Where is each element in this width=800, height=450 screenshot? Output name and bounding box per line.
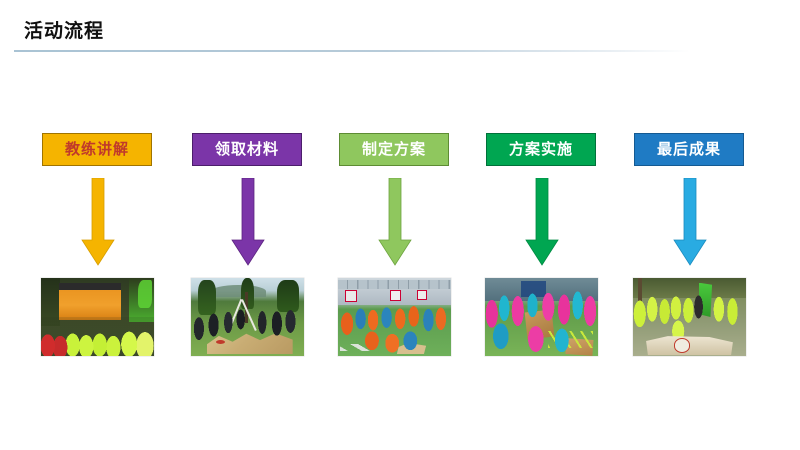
flow-step-1: 教练讲解 (26, 0, 176, 450)
step-label-text-1: 教练讲解 (65, 142, 129, 157)
flow-step-5: 最后成果 (618, 0, 768, 450)
photo-2-participants (191, 297, 304, 348)
step-label-text-2: 领取材料 (215, 142, 279, 157)
step-label-text-3: 制定方案 (362, 142, 426, 157)
step-photo-3 (338, 278, 451, 356)
step-photo-2 (191, 278, 304, 356)
step-photo-1 (41, 278, 154, 356)
step-label-box-1[interactable]: 教练讲解 (42, 133, 152, 166)
step-label-text-5: 最后成果 (657, 142, 721, 157)
process-flow: 教练讲解 领取材料 (0, 0, 800, 450)
photo-4-props (485, 342, 598, 354)
down-arrow-icon (378, 178, 412, 266)
step-label-box-3[interactable]: 制定方案 (339, 133, 449, 166)
flow-step-3: 制定方案 (323, 0, 473, 450)
step-label-box-2[interactable]: 领取材料 (192, 133, 302, 166)
step-label-box-4[interactable]: 方案实施 (486, 133, 596, 166)
step-label-text-4: 方案实施 (509, 142, 573, 157)
down-arrow-icon (81, 178, 115, 266)
down-arrow-icon (525, 178, 559, 266)
step-photo-5 (633, 278, 746, 356)
flow-step-4: 方案实施 (470, 0, 620, 450)
photo-5-emblem (674, 338, 691, 352)
down-arrow-icon (231, 178, 265, 266)
down-arrow-icon (673, 178, 707, 266)
photo-1-green-accent (138, 280, 152, 308)
photo-3-windows (338, 280, 451, 289)
flow-step-2: 领取材料 (176, 0, 326, 450)
photo-3-participants (338, 292, 451, 353)
step-label-box-5[interactable]: 最后成果 (634, 133, 744, 166)
photo-2-hill (211, 285, 265, 297)
photo-1-crowd (41, 317, 154, 356)
photo-1-stage-header (59, 283, 121, 290)
slide-canvas: 活动流程 教练讲解 (0, 0, 800, 450)
step-photo-4 (485, 278, 598, 356)
